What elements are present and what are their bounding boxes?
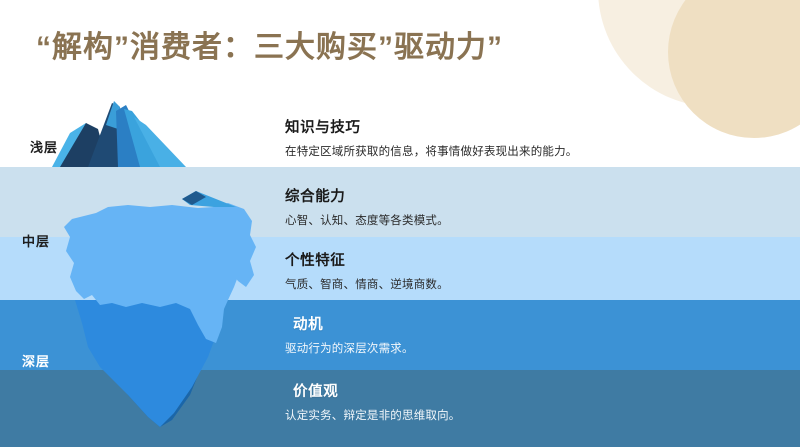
item-title: 个性特征	[285, 249, 755, 270]
item-description: 在特定区域所获取的信息，将事情做好表现出来的能力。	[285, 143, 755, 159]
page-title: “解构”消费者：三大购买”驱动力”	[36, 22, 503, 66]
content-item-personality: 个性特征 气质、智商、情商、逆境商数。	[285, 249, 755, 292]
item-description: 气质、智商、情商、逆境商数。	[285, 276, 755, 292]
item-description: 认定实务、辩定是非的思维取向。	[285, 407, 755, 423]
depth-label-deep: 深层	[22, 351, 50, 370]
item-title: 知识与技巧	[285, 116, 755, 137]
content-item-motivation: 动机 驱动行为的深层次需求。	[285, 313, 755, 356]
item-description: 心智、认知、态度等各类模式。	[285, 212, 755, 228]
content-item-values: 价值观 认定实务、辩定是非的思维取向。	[285, 380, 755, 423]
slide-canvas: “解构”消费者：三大购买”驱动力” 浅层 中层 深层 知识与技巧 在	[0, 0, 800, 447]
depth-label-shallow: 浅层	[30, 137, 58, 156]
item-description: 驱动行为的深层次需求。	[285, 340, 755, 356]
depth-label-middle: 中层	[22, 231, 50, 250]
item-title: 动机	[293, 313, 755, 334]
item-title: 综合能力	[285, 185, 755, 206]
item-title: 价值观	[293, 380, 755, 401]
content-item-competency: 综合能力 心智、认知、态度等各类模式。	[285, 185, 755, 228]
content-item-knowledge: 知识与技巧 在特定区域所获取的信息，将事情做好表现出来的能力。	[285, 116, 755, 159]
